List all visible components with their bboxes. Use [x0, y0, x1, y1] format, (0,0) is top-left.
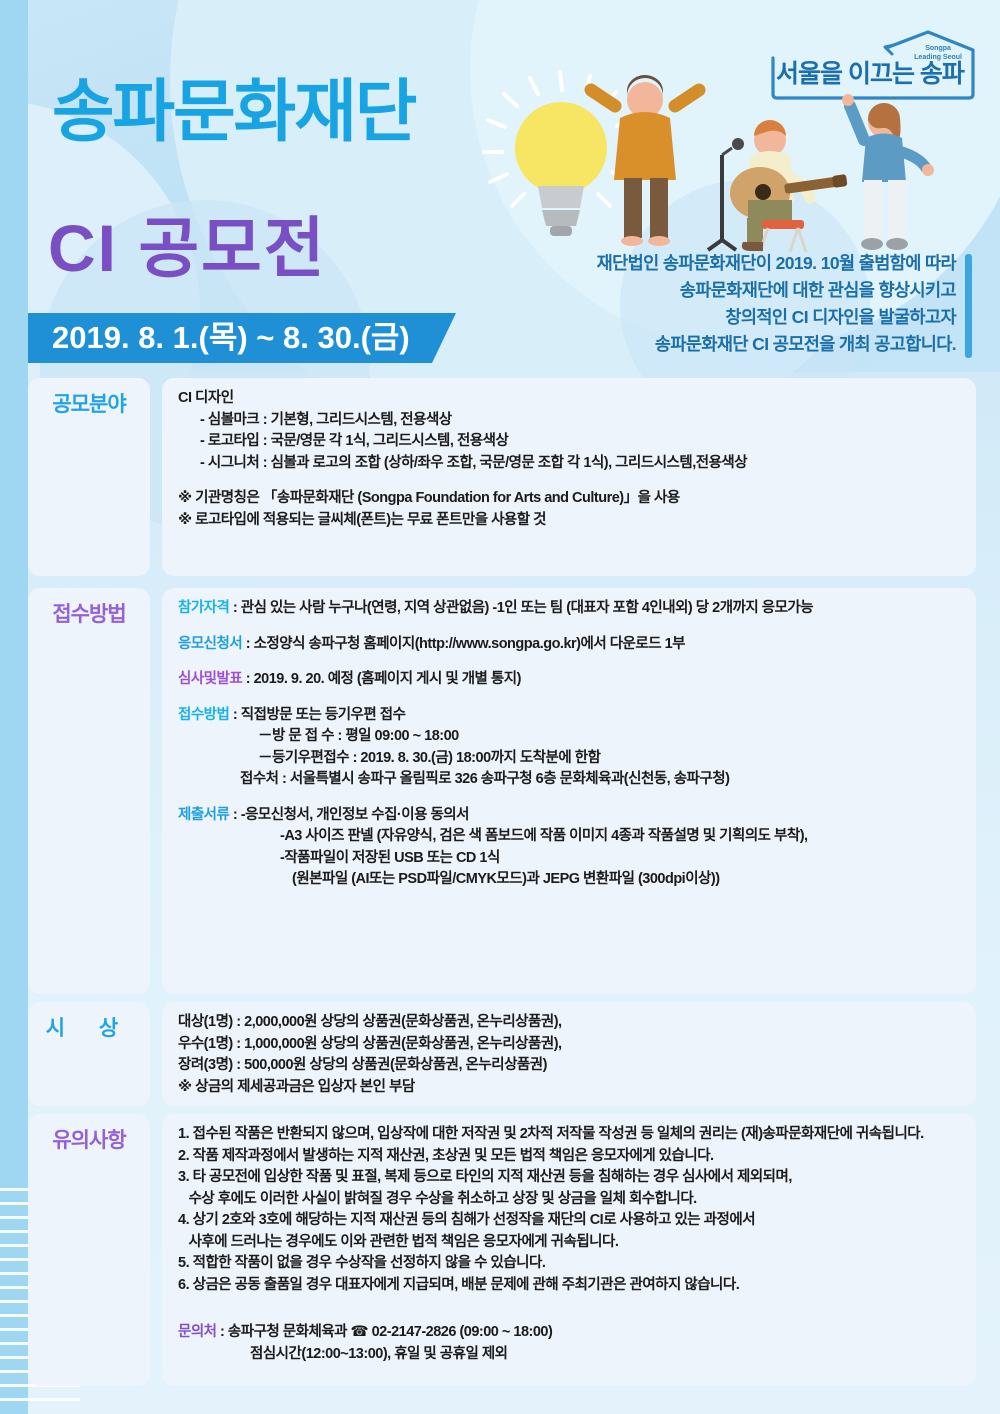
- spacer: [178, 474, 960, 488]
- section-prizes: 시 상 대상(1명) : 2,000,000원 상당의 상품권(문화상품권, 온…: [28, 1002, 976, 1106]
- application-documents-sub: -작품파일이 저장된 USB 또는 CD 1식: [178, 848, 960, 870]
- notice-line: 5. 적합한 작품이 없을 경우 수상작을 선정하지 않을 수 있습니다.: [178, 1253, 960, 1275]
- section-label-categories: 공모분야: [28, 378, 150, 576]
- poster-root: 서울을 이끄는 송파 Songpa Leading Seoul: [0, 0, 1000, 1414]
- section-notices: 유의사항 1. 접수된 작품은 반환되지 않으며, 입상작에 대한 저작권 및 …: [28, 1114, 976, 1386]
- section-content-prizes: 대상(1명) : 2,000,000원 상당의 상품권(문화상품권, 온누리상품…: [162, 1002, 976, 1106]
- prize-line: 우수(1명) : 1,000,000원 상당의 상품권(문화상품권, 온누리상품…: [178, 1034, 960, 1056]
- spacer: [178, 655, 960, 669]
- date-band: 2019. 8. 1.(목) ~ 8. 30.(금): [28, 313, 432, 363]
- application-documents-sub: -A3 사이즈 판넬 (자유양식, 검은 색 폼보드에 작품 이미지 4종과 작…: [178, 826, 960, 848]
- item-value: : 2019. 9. 20. 예정 (홈페이지 게시 및 개별 통지): [242, 671, 521, 687]
- section-label-text: 시 상: [46, 1012, 132, 1042]
- application-method-sub: －방 문 접 수 : 평일 09:00 ~ 18:00: [178, 726, 960, 748]
- item-key: 제출서류: [178, 807, 229, 823]
- contact-line-2: 점심시간(12:00~13:00), 휴일 및 공휴일 제외: [178, 1344, 960, 1366]
- notice-line: 수상 후에도 이러한 사실이 밝혀질 경우 수상을 취소하고 상장 및 상금을 …: [178, 1189, 960, 1211]
- illustration: [460, 60, 980, 280]
- application-documents-sub: (원본파일 (AI또는 PSD파일/CMYK모드)과 JEPG 변환파일 (30…: [178, 869, 960, 891]
- notice-line: 2. 작품 제작과정에서 발생하는 지적 재산권, 초상권 및 모든 법적 책임…: [178, 1146, 960, 1168]
- person-guitarist: [730, 120, 848, 252]
- categories-line: - 심볼마크 : 기본형, 그리드시스템, 전용색상: [178, 410, 960, 432]
- intro-accent-bar: [965, 254, 972, 358]
- application-item-form: 응모신청서 : 소정양식 송파구청 홈페이지(http://www.songpa…: [178, 634, 960, 656]
- contact-line-1: 문의처 : 송파구청 문화체육과 ☎ 02-2147-2826 (09:00 ~…: [178, 1322, 960, 1344]
- page-title-org: 송파문화재단: [52, 78, 415, 146]
- categories-line: - 시그니처 : 심볼과 로고의 조합 (상하/좌우 조합, 국문/영문 조합 …: [178, 453, 960, 475]
- logo-english-line1: Songpa: [914, 44, 962, 53]
- spacer: [178, 791, 960, 805]
- item-key: 참가자격: [178, 600, 229, 616]
- notice-line: 1. 접수된 작품은 반환되지 않으며, 입상작에 대한 저작권 및 2차적 저…: [178, 1124, 960, 1146]
- section-categories: 공모분야 CI 디자인 - 심볼마크 : 기본형, 그리드시스템, 전용색상 -…: [28, 378, 976, 576]
- prize-line: 대상(1명) : 2,000,000원 상당의 상품권(문화상품권, 온누리상품…: [178, 1012, 960, 1034]
- intro-line: 재단법인 송파문화재단이 2019. 10월 출범함에 따라: [516, 250, 956, 277]
- intro-line: 송파문화재단 CI 공모전을 개최 공고합니다.: [516, 331, 956, 358]
- spacer: [178, 1296, 960, 1322]
- section-label-notices: 유의사항: [28, 1114, 150, 1386]
- spacer: [178, 691, 960, 705]
- edge-stripe: [0, 1398, 80, 1401]
- item-value: : -응모신청서, 개인정보 수집·이용 동의서: [229, 807, 469, 823]
- notice-line: 사후에 드러나는 경우에도 이와 관련한 법적 책임은 응모자에게 귀속됩니다.: [178, 1232, 960, 1254]
- contact-value: : 송파구청 문화체육과 ☎ 02-2147-2826 (09:00 ~ 18:…: [217, 1324, 553, 1340]
- section-content-application: 참가자격 : 관심 있는 사람 누구나(연령, 지역 상관없음) -1인 또는 …: [162, 588, 976, 994]
- prize-note: ※ 상금의 제세공과금은 입상자 본인 부담: [178, 1077, 960, 1099]
- section-content-notices: 1. 접수된 작품은 반환되지 않으며, 입상작에 대한 저작권 및 2차적 저…: [162, 1114, 976, 1386]
- categories-note: ※ 기관명칭은 「송파문화재단 (Songpa Foundation for A…: [178, 488, 960, 510]
- application-item-documents: 제출서류 : -응모신청서, 개인정보 수집·이용 동의서: [178, 805, 960, 827]
- person-arms-up: [591, 75, 699, 246]
- person-arm-raised: [842, 94, 934, 250]
- application-method-sub: －등기우편접수 : 2019. 8. 30.(금) 18:00까지 도착분에 한…: [178, 748, 960, 770]
- categories-line: - 로고타입 : 국문/영문 각 1식, 그리드시스템, 전용색상: [178, 431, 960, 453]
- section-label-text: 접수방법: [52, 598, 125, 628]
- lightbulb-base-1: [538, 186, 584, 208]
- item-key: 심사및발표: [178, 671, 242, 687]
- intro-line: 송파문화재단에 대한 관심을 향상시키고: [516, 277, 956, 304]
- application-item-eligibility: 참가자격 : 관심 있는 사람 누구나(연령, 지역 상관없음) -1인 또는 …: [178, 598, 960, 620]
- spacer: [178, 620, 960, 634]
- notice-line: 6. 상금은 공동 출품일 경우 대표자에게 지급되며, 배분 문제에 관해 주…: [178, 1275, 960, 1297]
- item-value: : 직접방문 또는 등기우편 접수: [229, 707, 405, 723]
- categories-note: ※ 로고타입에 적용되는 글씨체(폰트)는 무료 폰트만을 사용할 것: [178, 510, 960, 532]
- application-method-sub: 접수처 : 서울특별시 송파구 올림픽로 326 송파구청 6층 문화체육과(신…: [178, 769, 960, 791]
- lightbulb-glass: [515, 102, 607, 194]
- item-value: : 소정양식 송파구청 홈페이지(http://www.songpa.go.kr…: [242, 636, 685, 652]
- lightbulb-tip: [550, 226, 572, 236]
- categories-heading: CI 디자인: [178, 388, 960, 410]
- intro-text: 재단법인 송파문화재단이 2019. 10월 출범함에 따라송파문화재단에 대한…: [516, 250, 956, 358]
- prize-line: 장려(3명) : 500,000원 상당의 상품권(문화상품권, 온누리상품권): [178, 1055, 960, 1077]
- item-key: 응모신청서: [178, 636, 242, 652]
- section-application: 접수방법 참가자격 : 관심 있는 사람 누구나(연령, 지역 상관없음) -1…: [28, 588, 976, 994]
- section-label-prizes: 시 상: [28, 1002, 150, 1106]
- application-item-method: 접수방법 : 직접방문 또는 등기우편 접수: [178, 705, 960, 727]
- section-label-application: 접수방법: [28, 588, 150, 994]
- item-value: : 관심 있는 사람 누구나(연령, 지역 상관없음) -1인 또는 팀 (대표…: [229, 600, 813, 616]
- section-label-text: 공모분야: [52, 388, 125, 418]
- notice-line: 4. 상기 2호와 3호에 해당하는 지적 재산권 등의 침해가 선정작을 재단…: [178, 1210, 960, 1232]
- section-content-categories: CI 디자인 - 심볼마크 : 기본형, 그리드시스템, 전용색상 - 로고타입…: [162, 378, 976, 576]
- lightbulb-base-2: [542, 210, 580, 226]
- section-label-text: 유의사항: [52, 1124, 125, 1154]
- page-title-contest: CI 공모전: [48, 215, 327, 281]
- contact-key: 문의처: [178, 1324, 217, 1340]
- application-item-judging: 심사및발표 : 2019. 9. 20. 예정 (홈페이지 게시 및 개별 통지…: [178, 669, 960, 691]
- item-key: 접수방법: [178, 707, 229, 723]
- intro-line: 창의적인 CI 디자인을 발굴하고자: [516, 304, 956, 331]
- notice-line: 3. 타 공모전에 입상한 작품 및 표절, 복제 등으로 타인의 지적 재산권…: [178, 1167, 960, 1189]
